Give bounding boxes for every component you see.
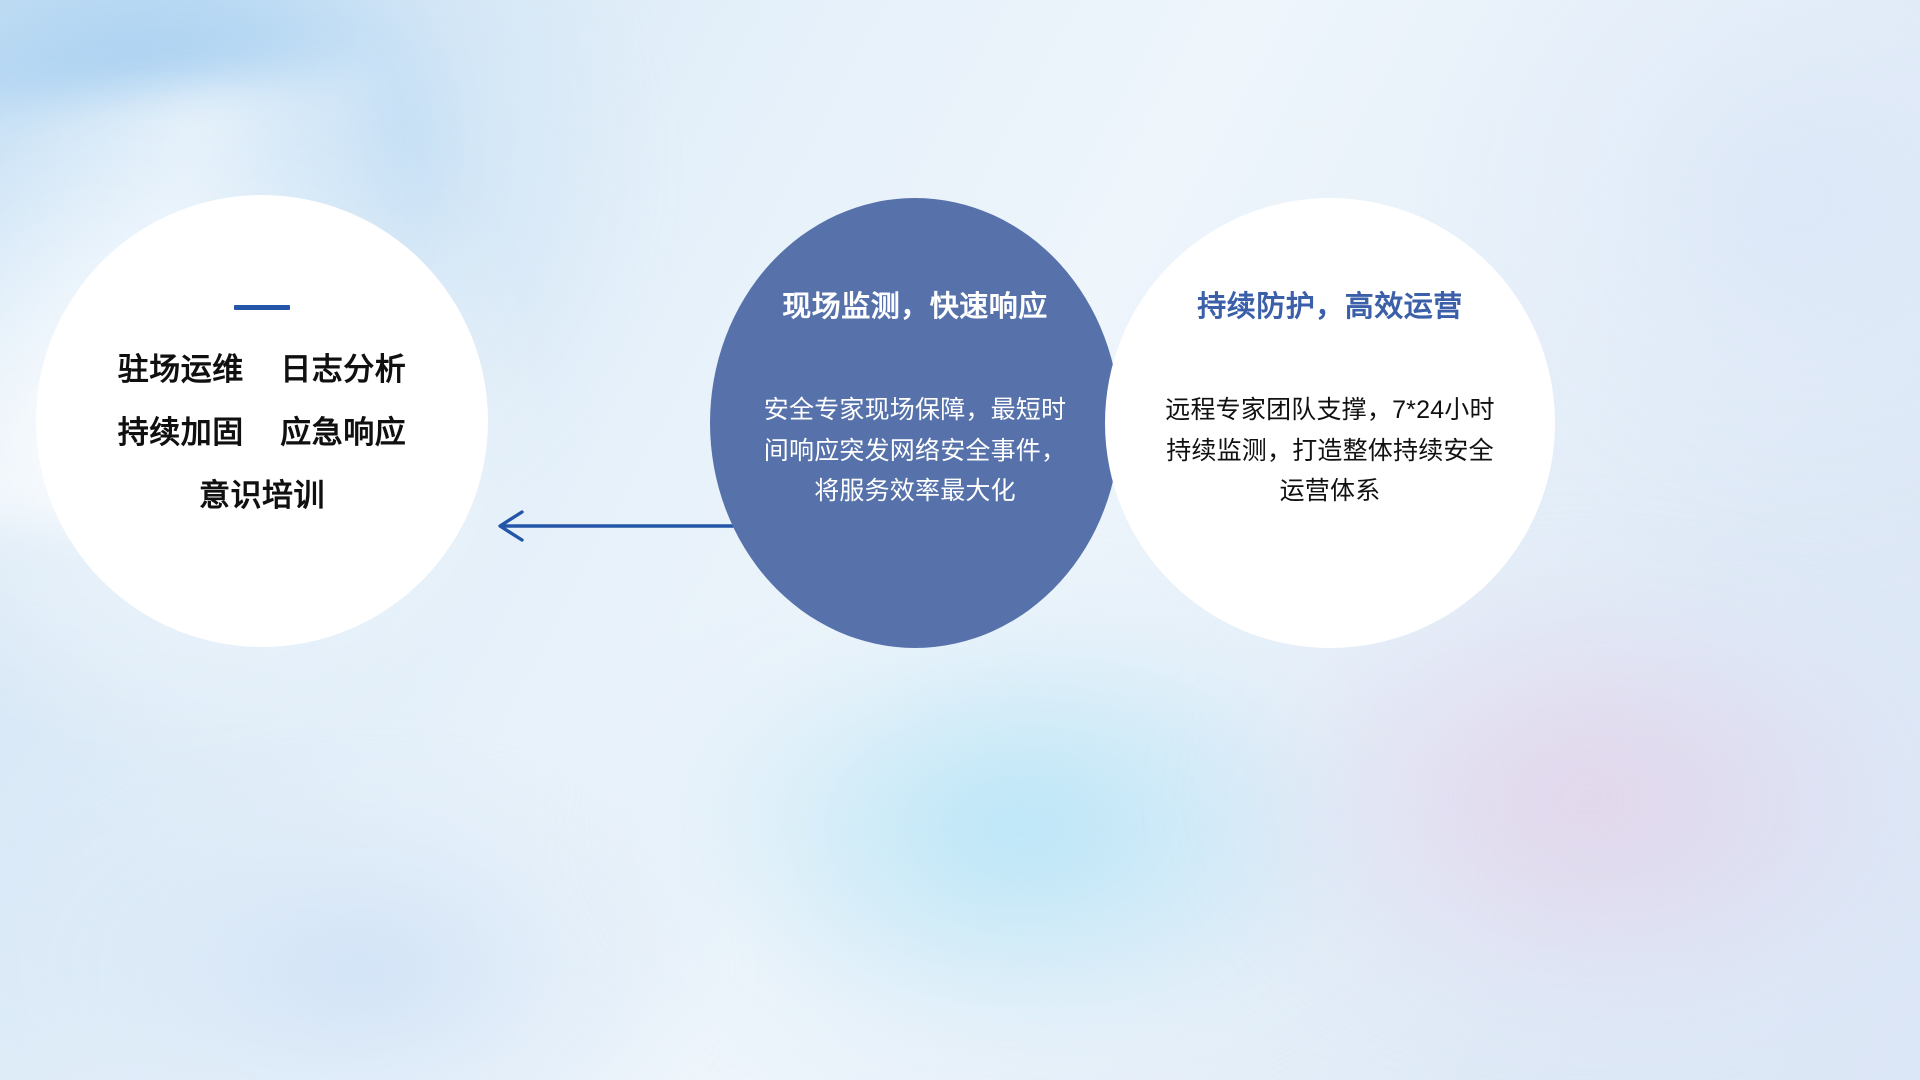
divider-dash <box>234 305 290 310</box>
right-circle-body: 远程专家团队支撑，7*24小时持续监测，打造整体持续安全运营体系 <box>1158 390 1503 512</box>
middle-circle-body: 安全专家现场保障，最短时间响应突发网络安全事件，将服务效率最大化 <box>760 390 1070 512</box>
capability-line-3: 意识培训 <box>199 480 325 511</box>
middle-onsite-circle[interactable]: 现场监测，快速响应 安全专家现场保障，最短时间响应突发网络安全事件，将服务效率最… <box>710 198 1120 648</box>
left-capability-circle[interactable]: 驻场运维 日志分析 持续加固 应急响应 意识培训 <box>36 195 488 647</box>
capability-line-2: 持续加固 应急响应 <box>118 417 406 448</box>
slide-canvas: 驻场运维 日志分析 持续加固 应急响应 意识培训 现场监测，快速响应 安全专家现… <box>0 0 1920 1080</box>
right-circle-title: 持续防护，高效运营 <box>1197 293 1463 322</box>
capability-line-1: 驻场运维 日志分析 <box>118 354 406 385</box>
right-operations-circle[interactable]: 持续防护，高效运营 远程专家团队支撑，7*24小时持续监测，打造整体持续安全运营… <box>1105 198 1555 648</box>
middle-circle-title: 现场监测，快速响应 <box>782 293 1048 322</box>
left-arrow-icon <box>480 500 740 560</box>
